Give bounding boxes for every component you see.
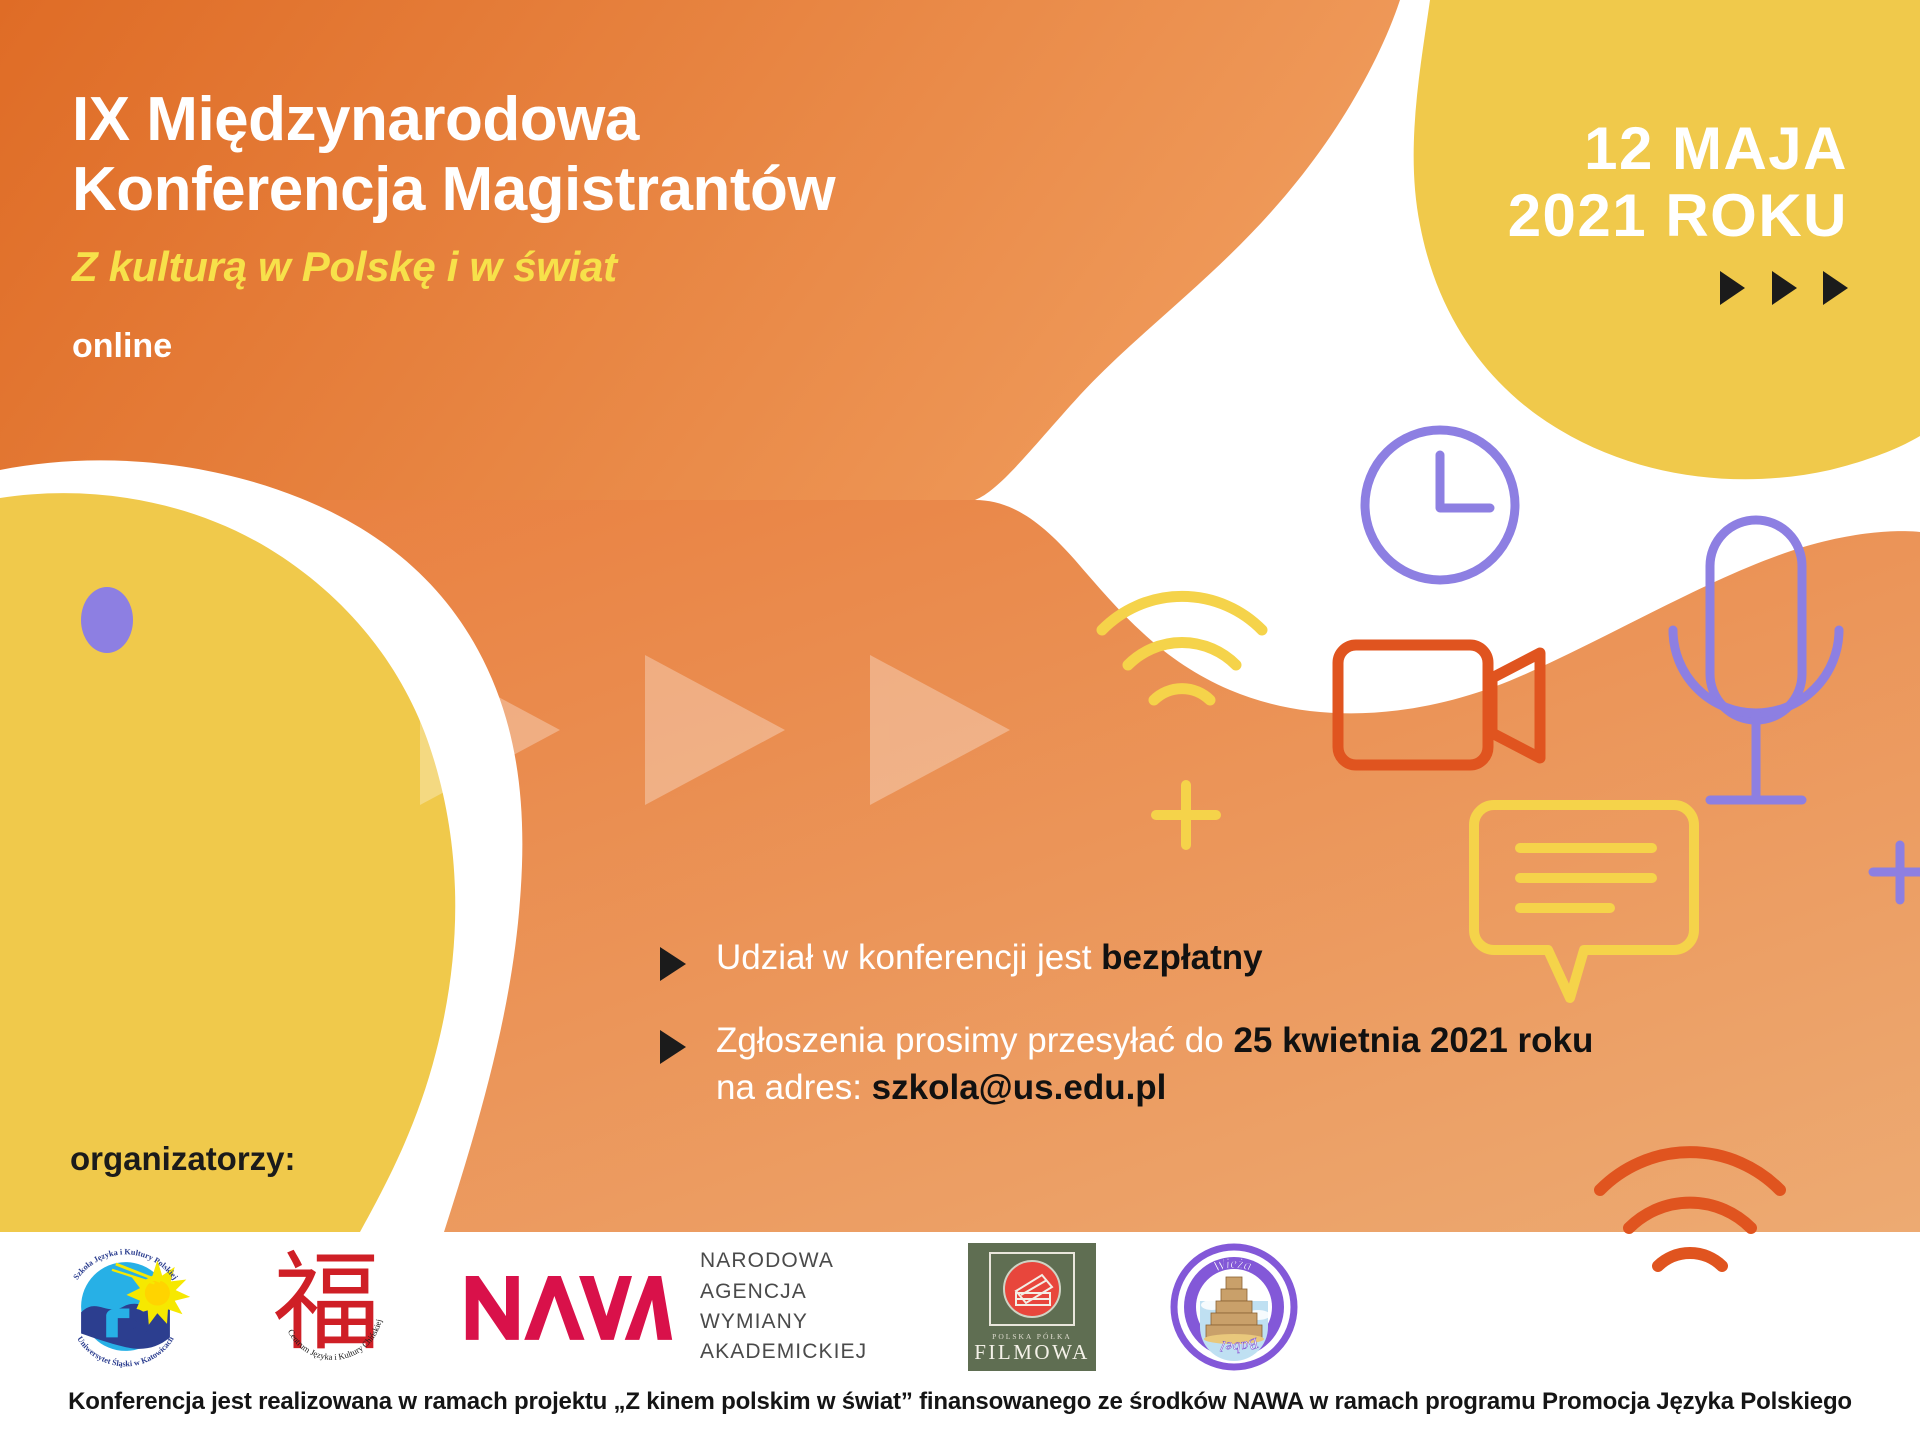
logo-szkola-jezyka-i-kultury-polskiej: Szkoła Języka i Kultury Polskiej Uniwers… xyxy=(48,1237,203,1377)
date-line-1: 12 MAJA xyxy=(1508,115,1848,182)
funding-note: Konferencja jest realizowana w ramach pr… xyxy=(0,1388,1920,1416)
title-block: IX Międzynarodowa Konferencja Magistrant… xyxy=(72,85,1252,366)
play-triangle-icon xyxy=(1720,271,1745,305)
logo-nawa: NARODOWA AGENCJA WYMIANY AKADEMICKIEJ xyxy=(464,1257,904,1357)
bullet-deadline-emphasis: 25 kwietnia 2021 roku xyxy=(1233,1021,1593,1060)
date-arrow-group xyxy=(1508,271,1848,305)
nawa-wordmark-icon xyxy=(464,1271,674,1343)
contact-email[interactable]: szkola@us.edu.pl xyxy=(872,1068,1167,1107)
bullet-fee-text: Udział w konferencji jest bezpłatny xyxy=(716,935,1263,982)
logo-film-wordmark: FILMOWA xyxy=(974,1340,1090,1364)
microphone-icon xyxy=(1673,520,1839,800)
info-bullet-list: Udział w konferencji jest bezpłatny Zgło… xyxy=(660,935,1840,1148)
page-title: IX Międzynarodowa Konferencja Magistrant… xyxy=(72,85,1252,225)
plus-icon-yellow xyxy=(1156,785,1216,845)
conference-mode-label: online xyxy=(72,327,1252,366)
date-block: 12 MAJA 2021 ROKU xyxy=(1508,115,1848,305)
nawa-subtitle: NARODOWA AGENCJA WYMIANY AKADEMICKIEJ xyxy=(700,1246,904,1368)
play-triangle-icon xyxy=(1823,271,1848,305)
bullet-deadline-lead: Zgłoszenia prosimy przesyłać do xyxy=(716,1021,1233,1060)
logo-centrum-jezyka-i-kultury-chinskiej: 福 Centrum Języka i Kultury Chińskiej xyxy=(263,1236,398,1378)
play-triangle-icon xyxy=(1772,271,1797,305)
play-triangle-icon xyxy=(660,947,686,981)
bullet-fee-emphasis: bezpłatny xyxy=(1101,938,1262,977)
video-camera-icon xyxy=(1338,645,1540,765)
bullet-fee-lead: Udział w konferencji jest xyxy=(716,938,1101,977)
bullet-email-lead: na adres: xyxy=(716,1068,872,1107)
list-item: Udział w konferencji jest bezpłatny xyxy=(660,935,1840,982)
date-line-2: 2021 ROKU xyxy=(1508,182,1848,249)
plus-icon-purple xyxy=(1873,845,1920,900)
conference-subtitle: Z kulturą w Polskę i w świat xyxy=(72,243,1252,291)
clock-icon xyxy=(1365,430,1515,580)
conference-poster: IX Międzynarodowa Konferencja Magistrant… xyxy=(0,0,1920,1440)
organizer-logo-strip: Szkoła Języka i Kultury Polskiej Uniwers… xyxy=(0,1232,1920,1382)
list-item: Zgłoszenia prosimy przesyłać do 25 kwiet… xyxy=(660,1018,1840,1112)
logo-wieza-babel: Wieża Babel xyxy=(1166,1239,1302,1375)
nawa-subtitle-line2: WYMIANY AKADEMICKIEJ xyxy=(700,1307,904,1368)
wifi-icon-yellow xyxy=(1102,596,1262,700)
bullet-deadline-text: Zgłoszenia prosimy przesyłać do 25 kwiet… xyxy=(716,1018,1593,1112)
nawa-subtitle-line1: NARODOWA AGENCJA xyxy=(700,1246,904,1307)
logo-polska-polka-filmowa: POLSKA PÓŁKA FILMOWA xyxy=(968,1243,1096,1371)
play-triangle-icon xyxy=(660,1030,686,1064)
organizers-label: organizatorzy: xyxy=(70,1140,296,1178)
